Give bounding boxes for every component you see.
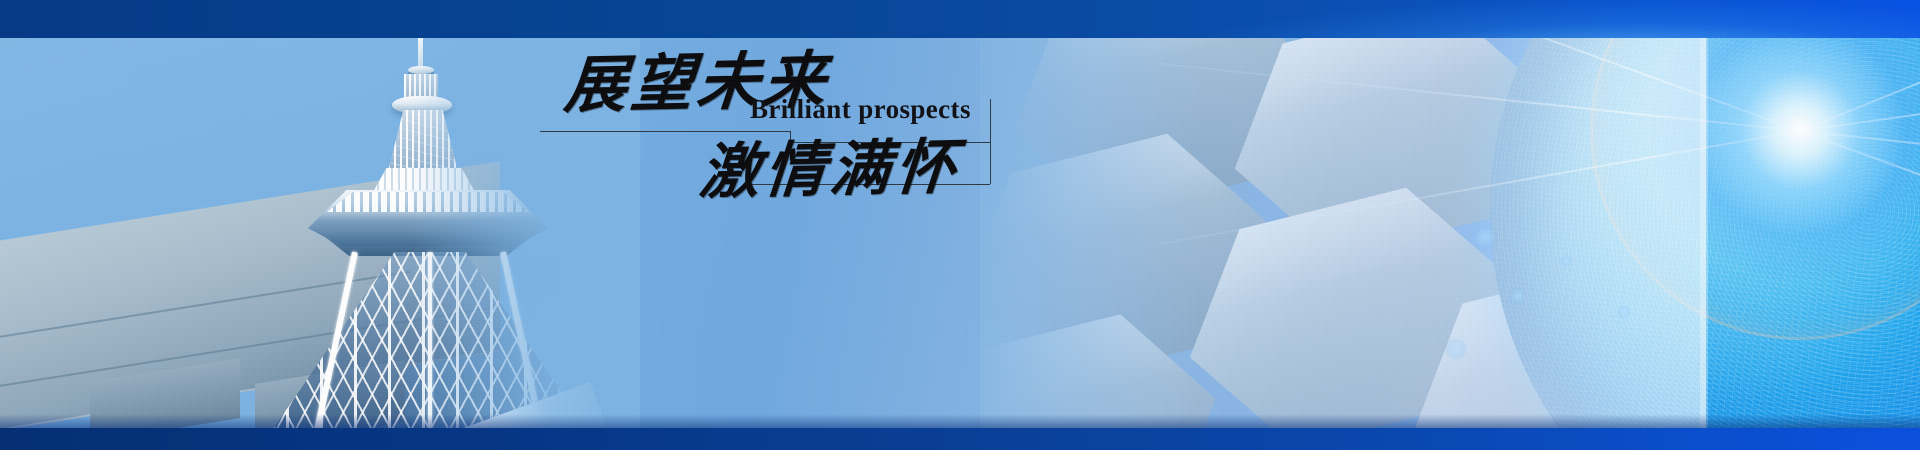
headline-rule: [540, 131, 790, 132]
headline-block: 展望未来 Brilliant prospects 激情满怀: [520, 52, 1040, 222]
lens-flare-dot: [1445, 338, 1467, 360]
english-tagline: Brilliant prospects: [750, 94, 971, 125]
top-navy-bar: [0, 0, 1920, 38]
headline-rule: [990, 99, 991, 184]
calligraphy-line-2: 激情满怀: [697, 137, 963, 202]
lens-flare-dot: [1472, 224, 1498, 250]
earth-globe-scene: [1160, 0, 1920, 450]
lens-flare-dot: [1509, 287, 1527, 305]
bottom-navy-bar: [0, 428, 1920, 450]
lens-flare-dot: [1617, 305, 1631, 319]
promo-banner: 展望未来 Brilliant prospects 激情满怀: [0, 0, 1920, 450]
lens-flare-dot: [1560, 255, 1572, 267]
